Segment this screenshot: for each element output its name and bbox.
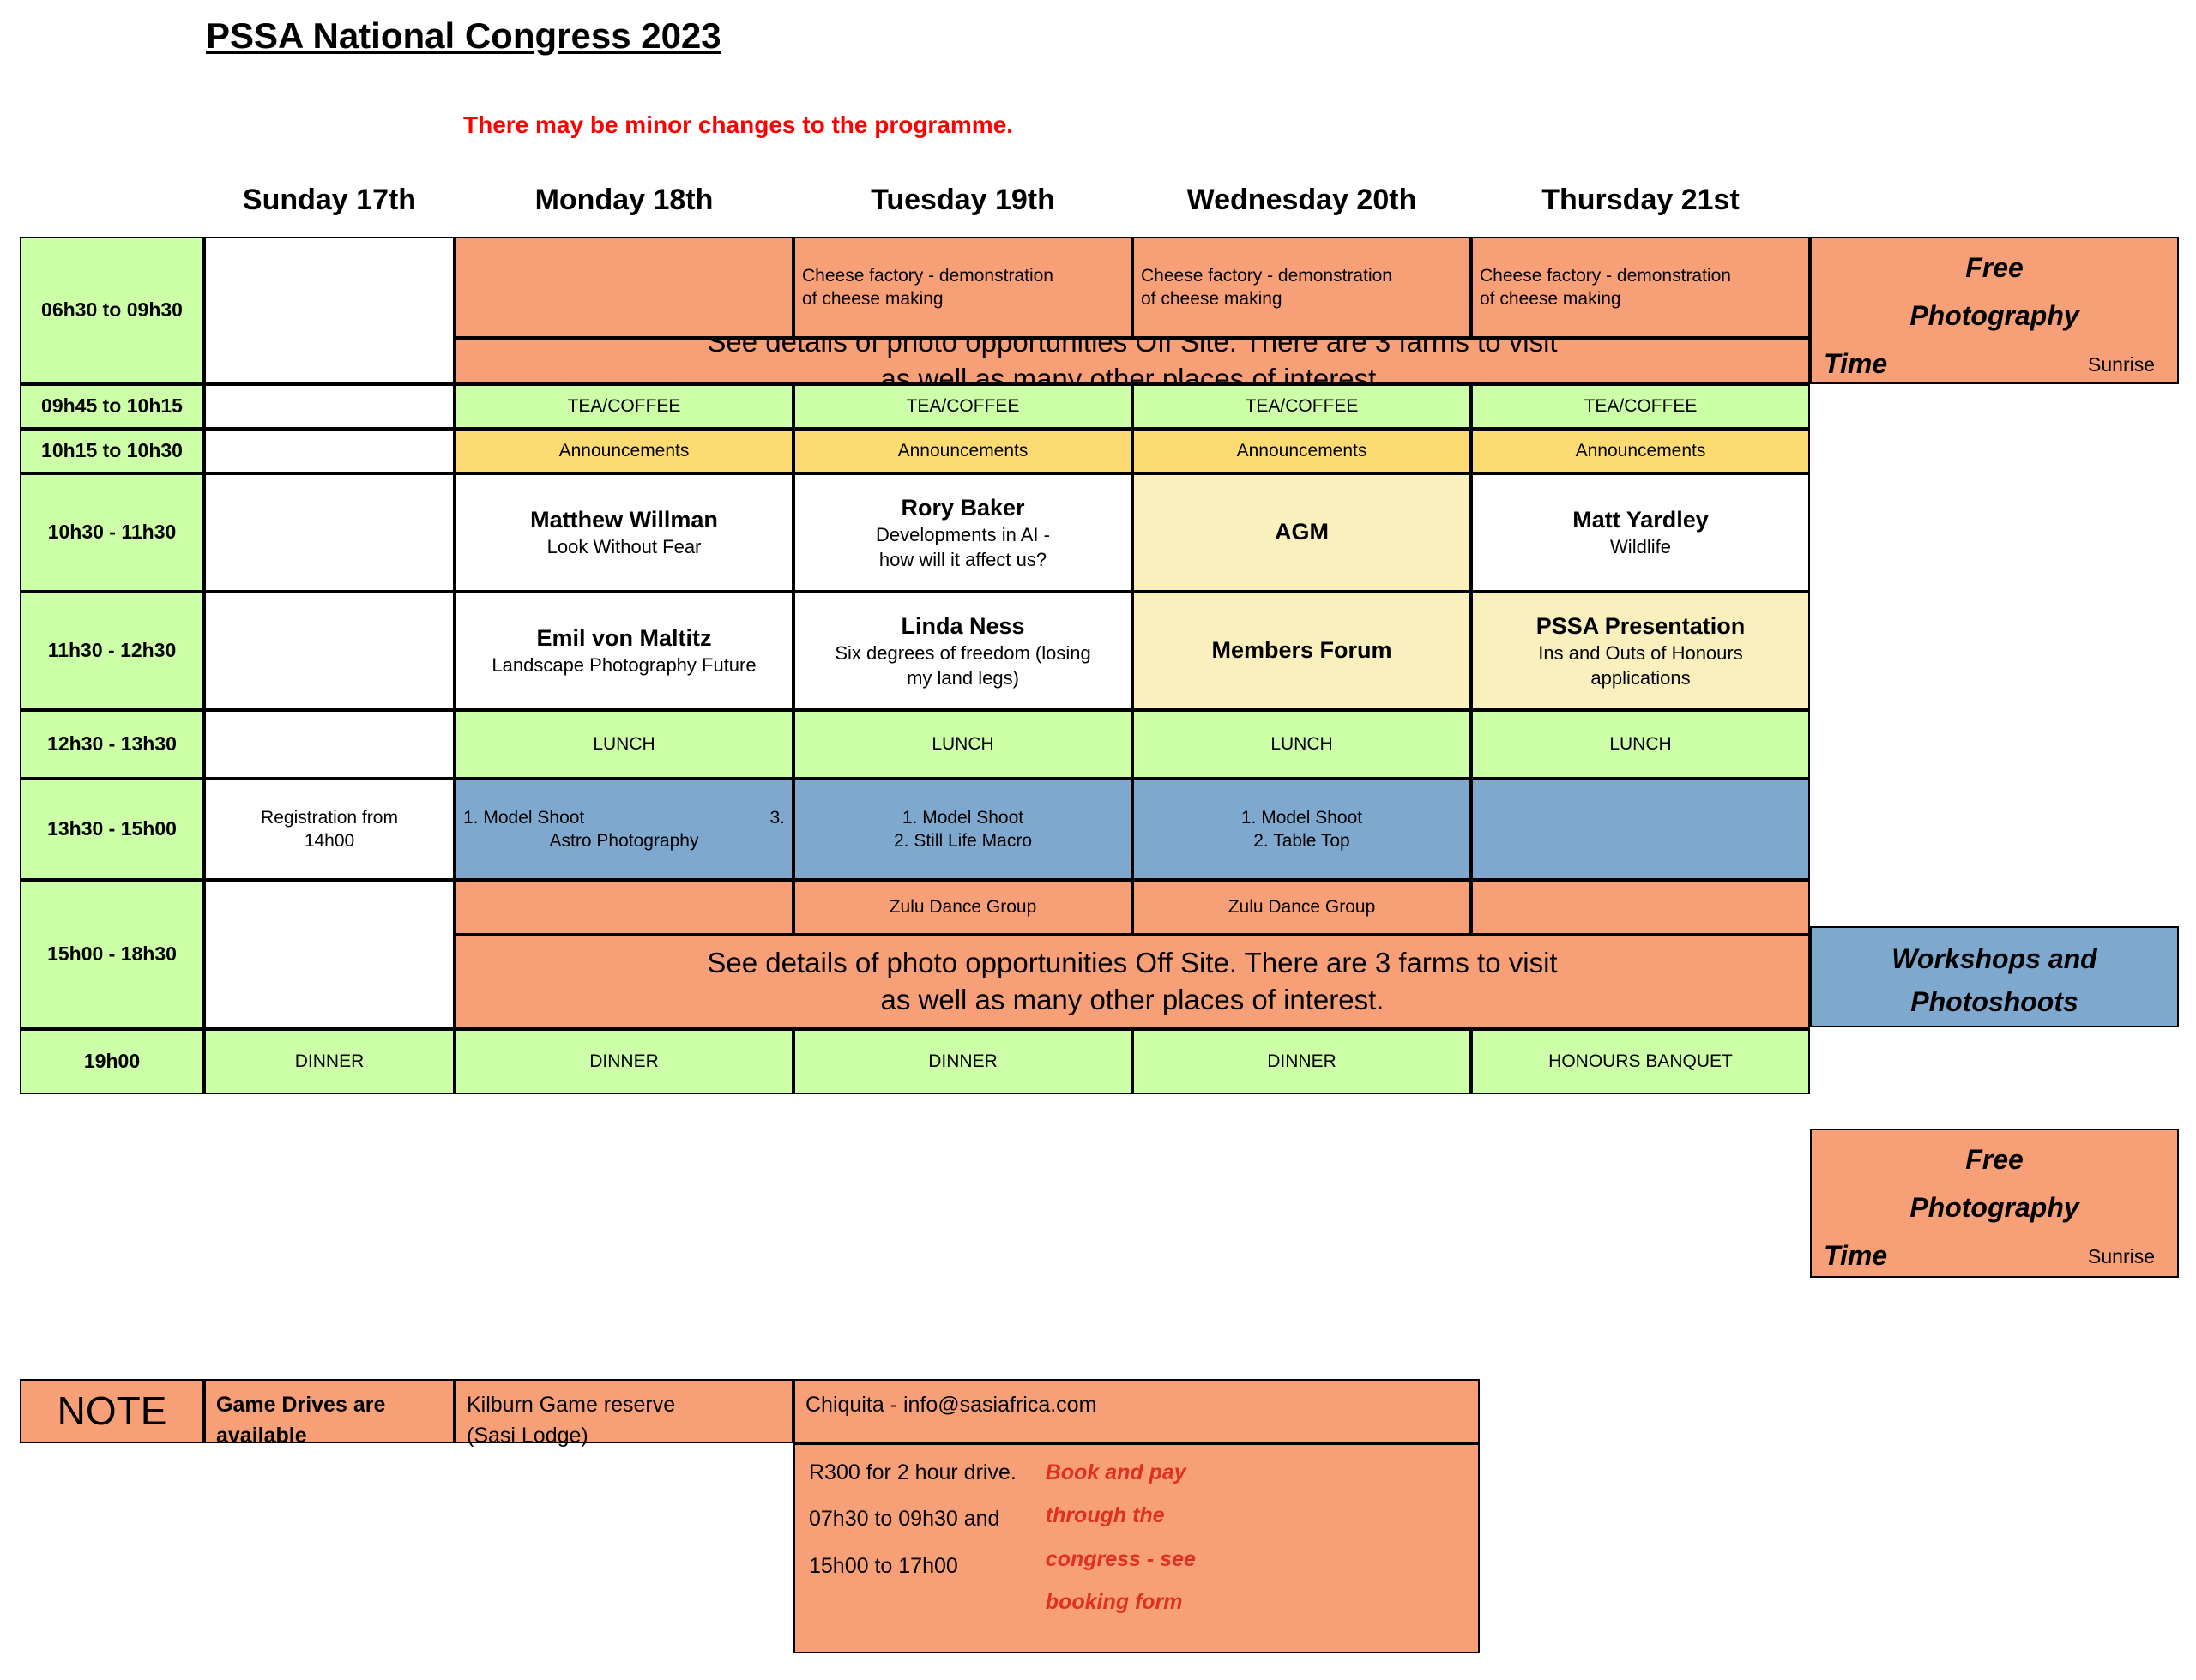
note-reserve: Kilburn Game reserve (Sasi Lodge)	[455, 1379, 793, 1443]
workshops-label-line-1: Workshops and	[1812, 942, 2177, 978]
price-line-3: 15h00 to 17h00	[809, 1551, 1017, 1581]
free-photo-line-3: Time	[1824, 346, 1887, 382]
cheese-line-1: Cheese factory - demonstration	[1141, 264, 1469, 287]
note-label: NOTE	[20, 1379, 204, 1443]
cell-sunday-1130	[204, 592, 455, 710]
booking-line-4: booking form	[1046, 1587, 1196, 1617]
time-label-0630: 06h30 to 09h30	[20, 237, 204, 384]
cell-thursday-free-photography-afternoon: Free Photography Time Sunrise approx. 05…	[1810, 1129, 2179, 1278]
cell-monday-afternoon	[455, 880, 793, 935]
time-label-1230: 12h30 - 13h30	[20, 710, 204, 779]
day-header-sunday: Sunday 17th	[204, 184, 455, 217]
booking-line-1: Book and pay	[1046, 1457, 1196, 1488]
speaker-name: Matt Yardley	[1473, 505, 1808, 535]
banner-offsite-afternoon: See details of photo opportunities Off S…	[455, 935, 1810, 1029]
free-photo-line-1: Free	[1812, 250, 2177, 286]
cell-thursday-workshops	[1471, 779, 1810, 880]
cell-thursday-1030-session: Matt Yardley Wildlife	[1471, 473, 1810, 592]
note-pricing-booking: R300 for 2 hour drive. 07h30 to 09h30 an…	[793, 1443, 1480, 1653]
workshops-label-line-2: Photoshoots	[1812, 985, 2177, 1021]
cell-thursday-lunch: LUNCH	[1471, 710, 1810, 779]
price-line-1: R300 for 2 hour drive.	[809, 1457, 1017, 1488]
workshop-item-3: 3.	[769, 806, 785, 829]
programme-page: PSSA National Congress 2023 There may be…	[0, 0, 2196, 1680]
workshop-item-1: 1. Model Shoot	[795, 806, 1131, 829]
cell-monday-workshops: 1. Model Shoot 3. Astro Photography	[455, 779, 793, 880]
cheese-line-1: Cheese factory - demonstration	[1480, 264, 1808, 287]
cell-tuesday-announcements: Announcements	[793, 429, 1132, 473]
cell-wednesday-1130-members-forum: Members Forum	[1132, 592, 1471, 710]
cell-tuesday-tea: TEA/COFFEE	[793, 384, 1132, 429]
workshop-item-1: 1. Model Shoot	[463, 806, 584, 829]
speaker-name: Linda Ness	[795, 611, 1131, 641]
cell-monday-1130-session: Emil von Maltitz Landscape Photography F…	[455, 592, 793, 710]
time-label-1330: 13h30 - 15h00	[20, 779, 204, 880]
note-booking-instruction: Book and pay through the congress - see …	[1046, 1457, 1196, 1617]
talk-title-line-2: how will it affect us?	[795, 548, 1131, 573]
cell-sunday-lunch	[204, 710, 455, 779]
cell-tuesday-dinner: DINNER	[793, 1029, 1132, 1094]
cell-wednesday-zulu-dance: Zulu Dance Group	[1132, 880, 1471, 935]
day-header-wednesday: Wednesday 20th	[1132, 184, 1471, 217]
session-name: PSSA Presentation	[1473, 611, 1808, 641]
cell-wednesday-announcements: Announcements	[1132, 429, 1471, 473]
registration-line-2: 14h00	[206, 829, 453, 852]
banner-offsite-morning: See details of photo opportunities Off S…	[455, 338, 1810, 384]
free-photo-line-1: Free	[1812, 1142, 2177, 1178]
cell-wednesday-cheese-factory: Cheese factory - demonstration of cheese…	[1132, 237, 1471, 338]
offsite-line-1: See details of photo opportunities Off S…	[456, 338, 1808, 361]
cell-thursday-tea: TEA/COFFEE	[1471, 384, 1810, 429]
session-name: Members Forum	[1134, 635, 1469, 665]
free-photo-line-2: Photography	[1812, 1190, 2177, 1226]
time-label-1130: 11h30 - 12h30	[20, 592, 204, 710]
cell-thursday-announcements: Announcements	[1471, 429, 1810, 473]
note-pricing: R300 for 2 hour drive. 07h30 to 09h30 an…	[809, 1457, 1017, 1617]
cell-sunday-announcements	[204, 429, 455, 473]
cell-wednesday-lunch: LUNCH	[1132, 710, 1471, 779]
workshop-item-1: 1. Model Shoot	[1134, 806, 1469, 829]
workshop-item-2: 2. Table Top	[1134, 829, 1469, 852]
cell-monday-1030-session: Matthew Willman Look Without Fear	[455, 473, 793, 592]
booking-line-3: congress - see	[1046, 1544, 1196, 1575]
cell-monday-lunch: LUNCH	[455, 710, 793, 779]
cell-wednesday-dinner: DINNER	[1132, 1029, 1471, 1094]
talk-title: Landscape Photography Future	[456, 653, 792, 678]
workshop-item-astro: Astro Photography	[463, 829, 785, 852]
cheese-line-2: of cheese making	[1141, 287, 1469, 310]
session-name: AGM	[1134, 517, 1469, 547]
cell-thursday-afternoon	[1471, 880, 1810, 935]
talk-title-line-1: Developments in AI -	[795, 523, 1131, 548]
time-label-1500: 15h00 - 18h30	[20, 880, 204, 1029]
cell-tuesday-lunch: LUNCH	[793, 710, 1132, 779]
talk-title: Wildlife	[1473, 535, 1808, 560]
day-header-thursday: Thursday 21st	[1471, 184, 1810, 217]
speaker-name: Matthew Willman	[456, 505, 792, 535]
offsite-line-2: as well as many other places of interest…	[456, 982, 1808, 1019]
note-game-drives: Game Drives are available	[204, 1379, 455, 1443]
speaker-name: Rory Baker	[795, 493, 1131, 523]
booking-line-2: through the	[1046, 1500, 1196, 1531]
cell-thursday-cheese-factory: Cheese factory - demonstration of cheese…	[1471, 237, 1810, 338]
note-contact: Chiquita - info@sasiafrica.com	[793, 1379, 1480, 1443]
cell-monday-morning	[455, 237, 793, 338]
registration-line-1: Registration from	[206, 806, 453, 829]
speaker-name: Emil von Maltitz	[456, 623, 792, 653]
game-drives-line-2: available	[216, 1420, 443, 1451]
session-detail-line-1: Ins and Outs of Honours	[1473, 641, 1808, 666]
day-header-monday: Monday 18th	[455, 184, 793, 217]
cell-tuesday-1130-session: Linda Ness Six degrees of freedom (losin…	[793, 592, 1132, 710]
cell-tuesday-cheese-factory: Cheese factory - demonstration of cheese…	[793, 237, 1132, 338]
talk-title: Look Without Fear	[456, 535, 792, 560]
cell-monday-announcements: Announcements	[455, 429, 793, 473]
cell-monday-tea: TEA/COFFEE	[455, 384, 793, 429]
session-detail-line-2: applications	[1473, 666, 1808, 691]
cell-monday-dinner: DINNER	[455, 1029, 793, 1094]
reserve-line-2: (Sasi Lodge)	[467, 1420, 781, 1451]
cell-wednesday-tea: TEA/COFFEE	[1132, 384, 1471, 429]
cell-sunday-morning	[204, 237, 455, 384]
game-drives-line-1: Game Drives are	[216, 1389, 443, 1420]
talk-title-line-1: Six degrees of freedom (losing	[795, 641, 1131, 666]
cell-thursday-free-photography-morning: Free Photography Time Sunrise approx. 05…	[1810, 237, 2179, 384]
cell-tuesday-workshops: 1. Model Shoot 2. Still Life Macro	[793, 779, 1132, 880]
cell-tuesday-1030-session: Rory Baker Developments in AI - how will…	[793, 473, 1132, 592]
cheese-line-2: of cheese making	[1480, 287, 1808, 310]
reserve-line-1: Kilburn Game reserve	[467, 1389, 781, 1420]
page-title: PSSA National Congress 2023	[206, 15, 721, 57]
time-label-1015: 10h15 to 10h30	[20, 429, 204, 473]
cheese-line-2: of cheese making	[802, 287, 1131, 310]
day-header-tuesday: Tuesday 19th	[793, 184, 1132, 217]
talk-title-line-2: my land legs)	[795, 666, 1131, 691]
programme-grid: 06h30 to 09h30 Cheese factory - demonstr…	[20, 237, 2179, 1310]
workshop-line-1: 1. Model Shoot 3.	[463, 806, 785, 829]
cell-wednesday-1030-agm: AGM	[1132, 473, 1471, 592]
time-label-1900: 19h00	[20, 1029, 204, 1094]
free-photo-sunrise-label: Sunrise	[2088, 352, 2155, 378]
workshop-item-2: 2. Still Life Macro	[795, 829, 1131, 852]
cell-workshops-photoshoots-label: Workshops and Photoshoots	[1810, 926, 2179, 1027]
cell-sunday-registration: Registration from 14h00	[204, 779, 455, 880]
cell-sunday-dinner: DINNER	[204, 1029, 455, 1094]
cell-sunday-1030	[204, 473, 455, 592]
price-line-2: 07h30 to 09h30 and	[809, 1503, 1017, 1534]
cheese-line-1: Cheese factory - demonstration	[802, 264, 1131, 287]
cell-sunday-tea	[204, 384, 455, 429]
cell-thursday-honours-banquet: HONOURS BANQUET	[1471, 1029, 1810, 1094]
contact-email: Chiquita - info@sasiafrica.com	[805, 1389, 1468, 1420]
cell-tuesday-zulu-dance: Zulu Dance Group	[793, 880, 1132, 935]
time-label-1030: 10h30 - 11h30	[20, 473, 204, 592]
offsite-line-1: See details of photo opportunities Off S…	[456, 945, 1808, 982]
cell-wednesday-workshops: 1. Model Shoot 2. Table Top	[1132, 779, 1471, 880]
free-photo-sunrise-label: Sunrise	[2088, 1244, 2155, 1270]
cell-sunday-afternoon	[204, 880, 455, 1029]
time-label-0945: 09h45 to 10h15	[20, 384, 204, 429]
offsite-line-2: as well as many other places of interest…	[456, 361, 1808, 384]
cell-thursday-1130-pssa-presentation: PSSA Presentation Ins and Outs of Honour…	[1471, 592, 1810, 710]
free-photo-line-2: Photography	[1812, 298, 2177, 334]
free-photo-line-3: Time	[1824, 1238, 1887, 1274]
programme-change-notice: There may be minor changes to the progra…	[463, 111, 1013, 139]
